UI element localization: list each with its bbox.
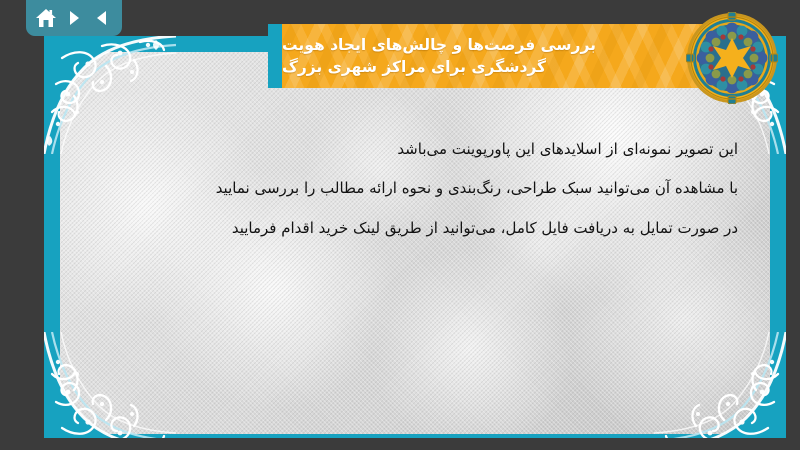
persian-rosette-ornament	[686, 12, 778, 104]
slide-title: بررسی فرصت‌ها و چالش‌های ایجاد هویت گردش…	[268, 24, 732, 88]
triangle-left-icon	[92, 8, 112, 28]
body-line-2: با مشاهده آن می‌توانید سبک طراحی، رنگ‌بن…	[62, 169, 738, 208]
body-line-3: در صورت تمایل به دریافت فایل کامل، می‌تو…	[62, 209, 738, 248]
home-button[interactable]	[34, 6, 58, 30]
screenshot-root: این تصویر نمونه‌ای از اسلایدهای این پاور…	[0, 0, 800, 450]
triangle-right-icon	[64, 8, 84, 28]
slide-body-text: این تصویر نمونه‌ای از اسلایدهای این پاور…	[62, 130, 738, 248]
body-line-1: این تصویر نمونه‌ای از اسلایدهای این پاور…	[62, 130, 738, 169]
next-slide-button[interactable]	[62, 6, 86, 30]
slide-title-line-2: گردشگری برای مراکز شهری بزرگ	[282, 56, 546, 78]
slide-navigation-bar	[26, 0, 122, 36]
home-icon	[35, 8, 57, 28]
slide-title-banner: بررسی فرصت‌ها و چالش‌های ایجاد هویت گردش…	[268, 24, 732, 88]
previous-slide-button[interactable]	[90, 6, 114, 30]
slide-title-line-1: بررسی فرصت‌ها و چالش‌های ایجاد هویت	[282, 34, 596, 56]
